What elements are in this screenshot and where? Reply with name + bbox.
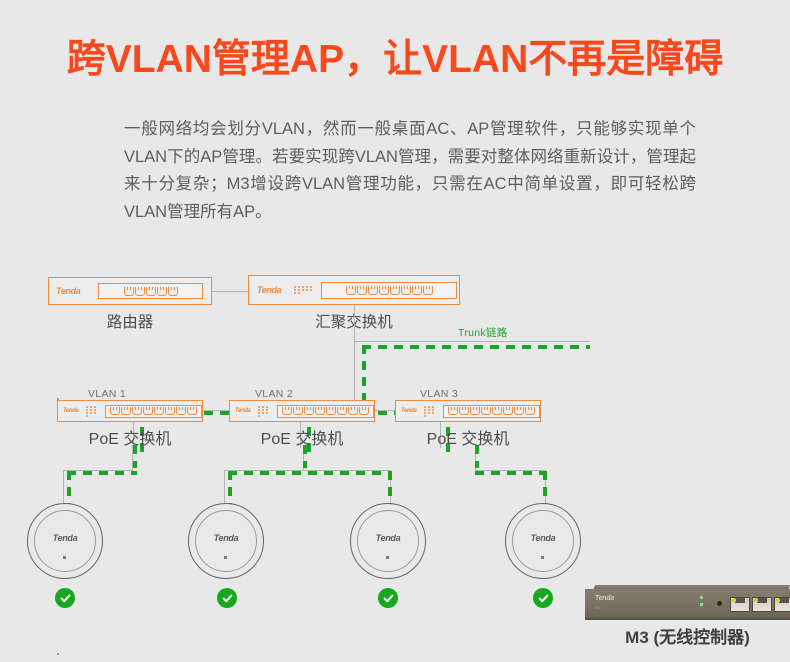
- device-m3-controller: Tenda M3: [585, 585, 790, 619]
- page-title: 跨VLAN管理AP，让VLAN不再是障碍: [0, 34, 790, 86]
- m3-port-bank: [730, 597, 790, 612]
- vlan-label-2: VLAN 2: [255, 388, 293, 400]
- poe3-bus-green: [475, 471, 543, 475]
- rj45-port: [135, 287, 145, 296]
- ap-status-led-icon: [224, 556, 227, 559]
- poe-switch-3-brand-logo: Tenda: [401, 408, 416, 414]
- access-point-4: Tenda: [505, 503, 581, 579]
- rj45-port: [730, 597, 750, 612]
- check-icon: [382, 592, 395, 605]
- device-core-switch: Tenda: [248, 275, 460, 305]
- rj45-port: [448, 407, 458, 415]
- rj45-port: [459, 407, 469, 415]
- m3-reset-button[interactable]: [717, 601, 722, 606]
- rj45-port: [176, 407, 186, 415]
- rj45-port: [368, 286, 378, 295]
- trunk-link-label: Trunk链路: [458, 325, 508, 340]
- device-router: Tenda: [48, 277, 212, 305]
- rj45-port: [132, 407, 142, 415]
- vlan-label-3: VLAN 3: [420, 388, 458, 400]
- rj45-port: [168, 287, 178, 296]
- rj45-port: [121, 407, 131, 415]
- poe-switch-2-led-array: [257, 407, 272, 415]
- poe-switch-3-port-bank: [443, 405, 540, 418]
- device-poe-switch-two: Tenda: [229, 400, 375, 422]
- check-icon: [59, 592, 72, 605]
- network-topology-diagram: Tenda 路由器 Tenda: [0, 255, 790, 655]
- rj45-port: [165, 407, 175, 415]
- rj45-port: [124, 287, 134, 296]
- device-poe-switch-1: [57, 653, 59, 655]
- poe3-ap4-drop-green: [543, 471, 547, 505]
- device-poe-switch-one: Tenda: [57, 400, 203, 422]
- rj45-port: [348, 407, 358, 415]
- ap-2-brand-logo: Tenda: [189, 533, 263, 543]
- rj45-port: [470, 407, 480, 415]
- ap-4-status-badge: [533, 588, 553, 608]
- poe3-stem-green: [475, 445, 479, 468]
- ap-status-led-icon: [63, 556, 66, 559]
- rj45-port: [315, 407, 325, 415]
- vlan-label-1: VLAN 1: [88, 388, 126, 400]
- rj45-port: [379, 286, 389, 295]
- link-router-to-core: [212, 291, 248, 292]
- router-caption: 路由器: [48, 310, 212, 332]
- poe-switch-1-port-bank: [105, 405, 202, 418]
- m3-front-panel: Tenda M3: [585, 589, 790, 620]
- rj45-port: [346, 286, 356, 295]
- device-poe-switch-three: Tenda: [395, 400, 541, 422]
- rj45-port: [110, 407, 120, 415]
- poe2-bus-green: [228, 471, 390, 475]
- rj45-port: [390, 286, 400, 295]
- rj45-port: [752, 597, 772, 612]
- rj45-port: [143, 407, 153, 415]
- rj45-port: [157, 287, 167, 296]
- check-icon: [537, 592, 550, 605]
- poe-switch-1-led-array: [85, 407, 100, 415]
- m3-caption: M3 (无线控制器): [585, 623, 790, 648]
- poe-switch-3-led-array: [423, 407, 438, 415]
- poe2-ap3-drop-green: [388, 471, 392, 505]
- access-point-3: Tenda: [350, 503, 426, 579]
- ap-1-brand-logo: Tenda: [28, 533, 102, 543]
- rj45-port: [514, 407, 524, 415]
- poe1-ap1-drop-gray: [63, 470, 64, 504]
- ap-3-status-badge: [378, 588, 398, 608]
- ap-1-status-badge: [55, 588, 75, 608]
- ap-status-led-icon: [386, 556, 389, 559]
- rj45-port: [357, 286, 367, 295]
- rj45-port: [187, 407, 197, 415]
- promo-page: 跨VLAN管理AP，让VLAN不再是障碍 一般网络均会划分VLAN，然而一般桌面…: [0, 0, 790, 662]
- access-point-1: Tenda: [27, 503, 103, 579]
- poe-switch-2-brand-logo: Tenda: [235, 408, 250, 414]
- link-core-to-controller: [354, 341, 590, 342]
- rj45-port: [337, 407, 347, 415]
- rj45-port: [293, 407, 303, 415]
- access-point-2: Tenda: [188, 503, 264, 579]
- ap-3-brand-logo: Tenda: [351, 533, 425, 543]
- ap-status-led-icon: [541, 556, 544, 559]
- rj45-port: [146, 287, 156, 296]
- ap-2-status-badge: [217, 588, 237, 608]
- rj45-port: [481, 407, 491, 415]
- rj45-port: [423, 286, 433, 295]
- rj45-port: [525, 407, 535, 415]
- link-core-downstem: [354, 305, 355, 410]
- m3-model-label: M3: [595, 605, 601, 610]
- rj45-port: [326, 407, 336, 415]
- poe-switch-2-port-bank: [277, 405, 374, 418]
- poe2-ap2-drop-gray: [224, 470, 225, 504]
- rj45-port: [503, 407, 513, 415]
- ap-4-brand-logo: Tenda: [506, 533, 580, 543]
- rj45-port: [412, 286, 422, 295]
- m3-brand-logo: Tenda: [595, 595, 614, 602]
- poe-switch-3-caption: PoE 交换机: [395, 425, 541, 449]
- m3-led-array: [700, 596, 703, 610]
- core-switch-led-array: [293, 285, 315, 296]
- rj45-port: [401, 286, 411, 295]
- poe-switch-1-brand-logo: Tenda: [63, 408, 78, 414]
- router-brand-logo: Tenda: [56, 286, 80, 296]
- rj45-port: [154, 407, 164, 415]
- check-icon: [221, 592, 234, 605]
- core-switch-brand-logo: Tenda: [257, 285, 281, 295]
- poe-switch-1-caption: PoE 交换机: [57, 425, 203, 449]
- rj45-port: [304, 407, 314, 415]
- poe1-bus-green: [67, 471, 137, 475]
- rj45-port: [492, 407, 502, 415]
- rj45-port: [774, 597, 790, 612]
- core-switch-port-bank: [321, 282, 457, 299]
- poe1-stem-green: [133, 445, 137, 468]
- poe-switch-2-caption: PoE 交换机: [229, 425, 375, 449]
- rj45-port: [359, 407, 369, 415]
- trunk-green-link: [362, 345, 590, 349]
- router-port-bank: [98, 283, 203, 299]
- description-paragraph: 一般网络均会划分VLAN，然而一般桌面AC、AP管理软件，只能够实现单个VLAN…: [124, 116, 696, 226]
- poe1-ap1-drop-green: [67, 471, 71, 505]
- poe2-ap2-drop-green: [228, 471, 232, 505]
- poe2-stem-green: [303, 445, 307, 468]
- rj45-port: [282, 407, 292, 415]
